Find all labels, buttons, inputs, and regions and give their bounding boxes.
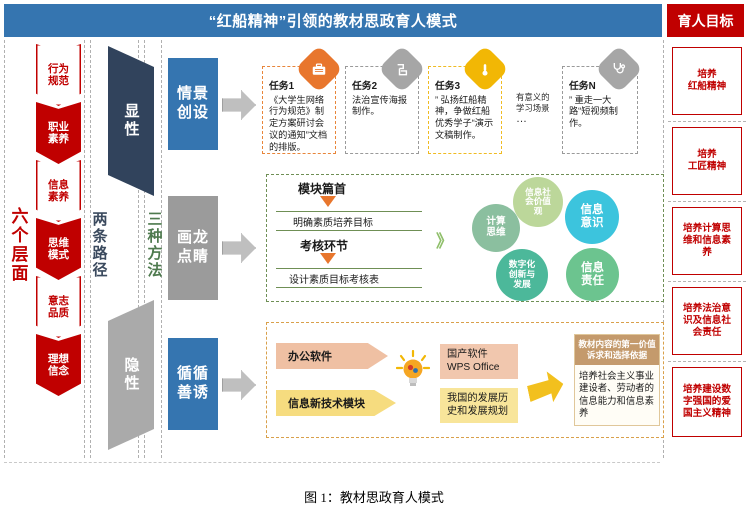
goal-line-1: 培养法治意 xyxy=(683,303,731,315)
tag-line-1: 国产软件 xyxy=(447,348,511,361)
method-line-1: 画龙 xyxy=(177,229,209,248)
level-line-1: 思维 xyxy=(48,237,69,249)
tag-national-development[interactable]: 我国的发展历 史和发展规划 xyxy=(440,388,518,423)
lightbulb-icon xyxy=(396,350,430,395)
arrow-right-icon-row2 xyxy=(222,233,256,263)
column-label-three-methods: 三种方法 xyxy=(143,185,165,305)
band-new-tech-module[interactable]: 信息新技术模块 xyxy=(276,390,396,416)
task-body: 法治宣传海报制作。 xyxy=(352,95,407,117)
goal-item-4[interactable]: 培养法治意 识及信息社 会责任 xyxy=(672,287,742,355)
task-body: ” 弘扬红船精神，争做红船优秀学子“演示文稿制作。 xyxy=(435,95,493,140)
level-item-1[interactable]: 行为 规范 xyxy=(36,44,81,106)
six-levels-stack: 行为 规范 职业 素养 信息 素养 思维 模式 意志 品质 理想 信念 xyxy=(36,44,81,392)
note-line-1: 有意义的 xyxy=(516,92,556,103)
level-line-2: 规范 xyxy=(48,75,69,87)
note-ellipsis: … xyxy=(516,114,556,125)
goal-line-2: 红船精神 xyxy=(688,81,726,93)
tag-line-2: 史和发展规划 xyxy=(447,405,511,418)
goal-item-5[interactable]: 培养建设数 字强国的爱 国主义精神 xyxy=(672,367,742,437)
goal-line-1: 培养建设数 xyxy=(683,384,731,396)
method-line-2: 点睛 xyxy=(177,248,209,267)
goals-column-header: 育人目标 xyxy=(667,4,744,37)
level-item-6[interactable]: 理想 信念 xyxy=(36,334,81,396)
figure-main-title: “红船精神”引领的教材思政育人模式 xyxy=(4,4,662,37)
method-finishing-touch[interactable]: 画龙 点睛 xyxy=(168,196,218,300)
double-chevron-icon: 》 xyxy=(436,227,451,252)
rule-4 xyxy=(276,287,422,288)
goal-line-2: 识及信息社 xyxy=(683,315,731,327)
bubble-info-society-values[interactable]: 信息社 会价值 观 xyxy=(513,177,563,227)
arrow-right-icon-row3 xyxy=(222,370,256,400)
goal-line-3: 会责任 xyxy=(683,327,731,339)
figure-root: “红船精神”引领的教材思政育人模式 育人目标 六个层面 两条路径 三种方法 行为… xyxy=(0,0,748,515)
tag-domestic-software[interactable]: 国产软件 WPS Office xyxy=(440,344,518,379)
bubble-digital-innovation[interactable]: 数字化 创新与 发展 xyxy=(496,249,548,301)
rule-2 xyxy=(276,230,422,231)
goal-separator-3 xyxy=(668,281,746,282)
bubble-line-3: 发展 xyxy=(513,280,531,290)
goal-separator-1 xyxy=(668,121,746,122)
module-opening-head: 模块篇首 xyxy=(298,180,346,197)
goal-line-1: 培养 xyxy=(688,69,726,81)
level-line-1: 职业 xyxy=(48,121,69,133)
level-item-5[interactable]: 意志 品质 xyxy=(36,276,81,338)
goal-line-3: 养 xyxy=(683,247,731,259)
column-label-six-levels: 六个层面 xyxy=(6,170,30,320)
tag-line-2: WPS Office xyxy=(447,361,511,374)
goal-item-3[interactable]: 培养计算思 维和信息素 养 xyxy=(672,207,742,275)
assessment-sub: 设计素质目标考核表 xyxy=(289,271,379,286)
column-label-two-paths: 两条路径 xyxy=(88,185,110,305)
figure-caption: 图 1：教材思政育人模式 xyxy=(0,487,748,506)
triangle-down-icon-2 xyxy=(320,253,336,264)
method-line-1: 循循 xyxy=(177,365,209,384)
rule-1 xyxy=(276,211,422,212)
level-item-2[interactable]: 职业 素养 xyxy=(36,102,81,164)
bubble-information-responsibility[interactable]: 信息 责任 xyxy=(566,248,619,301)
bubble-computational-thinking[interactable]: 计算 思维 xyxy=(472,204,520,252)
goal-separator-4 xyxy=(668,361,746,362)
assessment-head: 考核环节 xyxy=(300,237,348,254)
bottom-rule xyxy=(4,462,660,463)
result-box[interactable]: 教材内容的第一价值诉求和选择依据 培养社会主义事业建设者、劳动者的信息能力和信息… xyxy=(574,334,660,426)
goal-item-1[interactable]: 培养 红船精神 xyxy=(672,47,742,115)
goal-item-2[interactable]: 培养 工匠精神 xyxy=(672,127,742,195)
level-line-2: 素养 xyxy=(48,133,69,145)
method-patient-guidance[interactable]: 循循 善诱 xyxy=(168,338,218,430)
result-box-head: 教材内容的第一价值诉求和选择依据 xyxy=(575,335,659,365)
goal-line-3: 国主义精神 xyxy=(683,408,731,420)
level-line-1: 意志 xyxy=(48,295,69,307)
triangle-down-icon-1 xyxy=(320,196,336,207)
level-line-2: 品质 xyxy=(48,307,69,319)
bubble-line-3: 观 xyxy=(534,207,543,217)
goal-separator-2 xyxy=(668,201,746,202)
level-line-1: 信息 xyxy=(48,179,69,191)
method-scenario-creation[interactable]: 情景 创设 xyxy=(168,58,218,150)
level-item-3[interactable]: 信息 素养 xyxy=(36,160,81,222)
path-explicit[interactable]: 显性 xyxy=(108,46,154,196)
level-line-2: 模式 xyxy=(48,249,69,261)
level-line-1: 理想 xyxy=(48,353,69,365)
bubble-line-2: 责任 xyxy=(581,275,604,288)
bubble-line-2: 意识 xyxy=(581,217,604,230)
task-body: ” 重走一大路“短视频制作。 xyxy=(569,95,618,129)
level-item-4[interactable]: 思维 模式 xyxy=(36,218,81,280)
goal-line-1: 培养计算思 xyxy=(683,223,731,235)
method-line-2: 创设 xyxy=(177,104,209,123)
method-line-2: 善诱 xyxy=(177,384,209,403)
bubble-line-1: 信息 xyxy=(581,204,604,217)
band-office-software[interactable]: 办公软件 xyxy=(276,343,388,369)
bubble-line-2: 思维 xyxy=(486,228,505,239)
level-line-1: 行为 xyxy=(48,63,69,75)
level-line-2: 信念 xyxy=(48,365,69,377)
goal-line-2: 工匠精神 xyxy=(688,161,726,173)
rule-3 xyxy=(276,268,422,269)
arrow-right-icon-row1 xyxy=(222,90,256,120)
task-body: 《大学生网络行为规范》制定方案研讨会议的通知”文档的排版。 xyxy=(269,95,327,152)
divider-col1-col2 xyxy=(84,40,85,458)
module-opening-sub: 明确素质培养目标 xyxy=(293,214,373,229)
level-line-2: 素养 xyxy=(48,191,69,203)
tag-line-1: 我国的发展历 xyxy=(447,392,511,405)
goal-line-1: 培养 xyxy=(688,149,726,161)
method-line-1: 情景 xyxy=(177,85,209,104)
meaningful-scenario-note: 有意义的 学习场景 … xyxy=(516,92,556,125)
bubble-information-awareness[interactable]: 信息 意识 xyxy=(565,190,619,244)
goal-line-2: 字强国的爱 xyxy=(683,396,731,408)
goal-line-2: 维和信息素 xyxy=(683,235,731,247)
result-box-body: 培养社会主义事业建设者、劳动者的信息能力和信息素养 xyxy=(575,365,659,425)
bubble-line-1: 信息 xyxy=(581,262,604,275)
path-implicit[interactable]: 隐性 xyxy=(108,300,154,450)
